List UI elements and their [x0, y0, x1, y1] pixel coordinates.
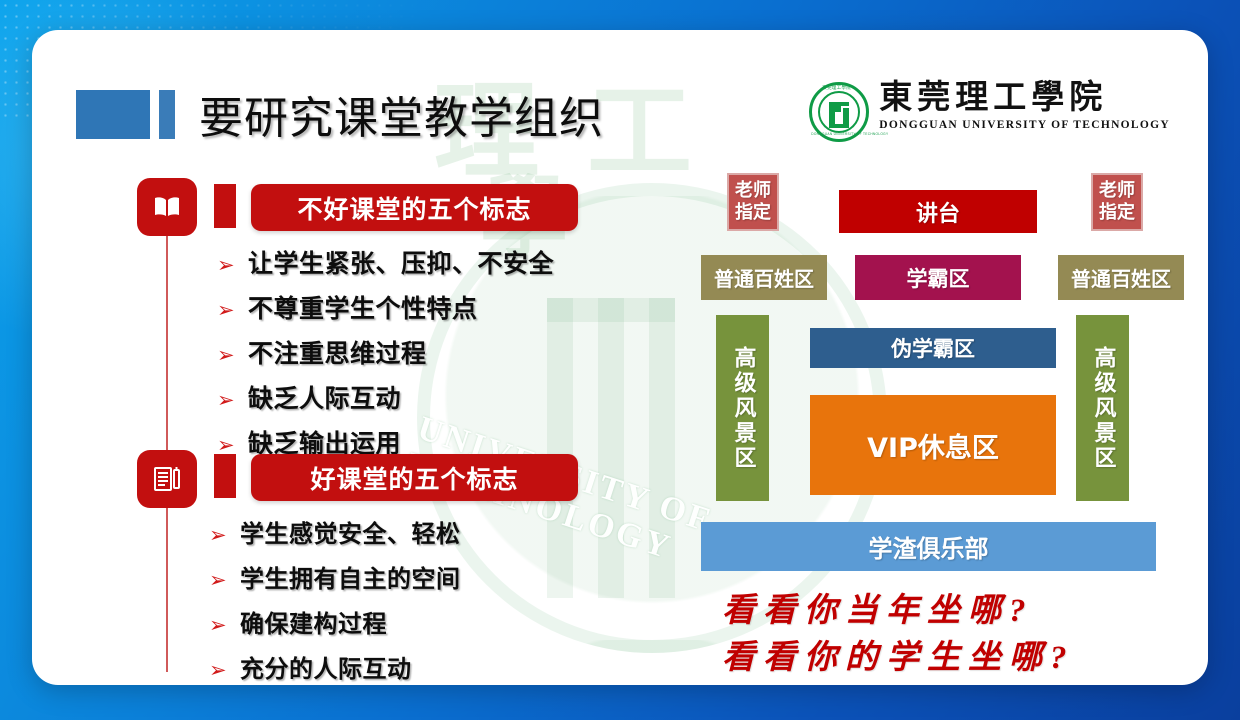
section-banner-2: 好课堂的五个标志	[251, 454, 578, 501]
bullet-list-1: ➢ 让学生紧张、压抑、不安全 ➢ 不尊重学生个性特点 ➢ 不注重思维过程 ➢ 缺…	[217, 244, 554, 469]
document-pen-icon	[137, 450, 197, 508]
bullet-arrow-icon: ➢	[217, 435, 248, 456]
bullet-arrow-icon: ➢	[209, 570, 240, 591]
classroom-seating-diagram: 老师指定 讲台 老师指定 普通百姓区 学霸区 普通百姓区 高级风景区 伪学霸区 …	[687, 170, 1197, 580]
list-item: ➢ 不注重思维过程	[217, 334, 554, 370]
logo-name-en: DONGGUAN UNIVERSITY OF TECHNOLOGY	[879, 119, 1170, 131]
page-title: 要研究课堂教学组织	[199, 82, 604, 146]
bullet-text: 学生感觉安全、轻松	[240, 514, 461, 549]
diagram-box-loser-club: 学渣俱乐部	[701, 522, 1156, 571]
list-item: ➢ 让学生紧张、压抑、不安全	[217, 244, 554, 280]
list-item: ➢ 学生拥有自主的空间	[209, 559, 461, 594]
list-item: ➢ 确保建构过程	[209, 604, 461, 639]
slide-card: 理 工 學 UNIVERSITY OF TECHNOLOGY 要研究课堂教学组织…	[32, 30, 1208, 685]
diagram-box-teacher-assigned-left: 老师指定	[727, 173, 779, 231]
diagram-box-scenic-left: 高级风景区	[716, 315, 769, 501]
bullet-text: 缺乏人际互动	[248, 379, 401, 415]
bullet-text: 不注重思维过程	[248, 334, 427, 370]
bullet-list-2: ➢ 学生感觉安全、轻松 ➢ 学生拥有自主的空间 ➢ 确保建构过程 ➢ 充分的人际…	[209, 514, 461, 685]
bullet-arrow-icon: ➢	[217, 300, 248, 321]
bullet-text: 不尊重学生个性特点	[248, 289, 478, 325]
university-seal-icon: 東莞理工學院 DONGGUAN UNIVERSITY OF TECHNOLOGY	[809, 82, 869, 142]
diagram-box-fake-ace: 伪学霸区	[810, 328, 1056, 368]
bullet-arrow-icon: ➢	[217, 345, 248, 366]
bullet-arrow-icon: ➢	[209, 615, 240, 636]
diagram-box-ace: 学霸区	[855, 255, 1021, 300]
diagram-box-podium: 讲台	[839, 190, 1037, 233]
list-item: ➢ 充分的人际互动	[209, 649, 461, 684]
list-item: ➢ 学生感觉安全、轻松	[209, 514, 461, 549]
bullet-arrow-icon: ➢	[217, 255, 248, 276]
vertical-connector-line	[166, 204, 168, 672]
bullet-arrow-icon: ➢	[217, 390, 248, 411]
title-accent-block-small	[159, 90, 175, 139]
slide-title-row: 要研究课堂教学组织	[76, 82, 604, 146]
section-banner-1: 不好课堂的五个标志	[251, 184, 578, 231]
seal-microtext: 東莞理工學院 DONGGUAN UNIVERSITY OF TECHNOLOGY	[809, 82, 869, 142]
diagram-box-common-left: 普通百姓区	[701, 255, 827, 300]
diagram-box-vip-lounge: VIP休息区	[810, 395, 1056, 495]
section-accent-square-2	[214, 454, 236, 498]
book-icon	[137, 178, 197, 236]
list-item: ➢ 不尊重学生个性特点	[217, 289, 554, 325]
bullet-text: 学生拥有自主的空间	[240, 559, 461, 594]
bullet-arrow-icon: ➢	[209, 660, 240, 681]
bullet-text: 充分的人际互动	[240, 649, 412, 684]
bullet-text: 让学生紧张、压抑、不安全	[248, 244, 554, 280]
bullet-arrow-icon: ➢	[209, 525, 240, 546]
list-item: ➢ 缺乏人际互动	[217, 379, 554, 415]
diagram-box-teacher-assigned-right: 老师指定	[1091, 173, 1143, 231]
diagram-box-common-right: 普通百姓区	[1058, 255, 1184, 300]
bullet-text: 确保建构过程	[240, 604, 387, 639]
section-accent-square-1	[214, 184, 236, 228]
callout-question: 看看你当年坐哪? 看看你的学生坐哪?	[722, 588, 1192, 682]
diagram-box-scenic-right: 高级风景区	[1076, 315, 1129, 501]
callout-line-1: 看看你当年坐哪?	[722, 588, 1192, 635]
title-accent-block-large	[76, 90, 150, 139]
logo-name-cn: 東莞理工學院	[879, 78, 1170, 118]
university-logo: 東莞理工學院 DONGGUAN UNIVERSITY OF TECHNOLOGY…	[809, 78, 1170, 142]
callout-line-2: 看看你的学生坐哪?	[722, 635, 1192, 682]
left-content-column: 不好课堂的五个标志 ➢ 让学生紧张、压抑、不安全 ➢ 不尊重学生个性特点 ➢ 不…	[32, 162, 672, 682]
